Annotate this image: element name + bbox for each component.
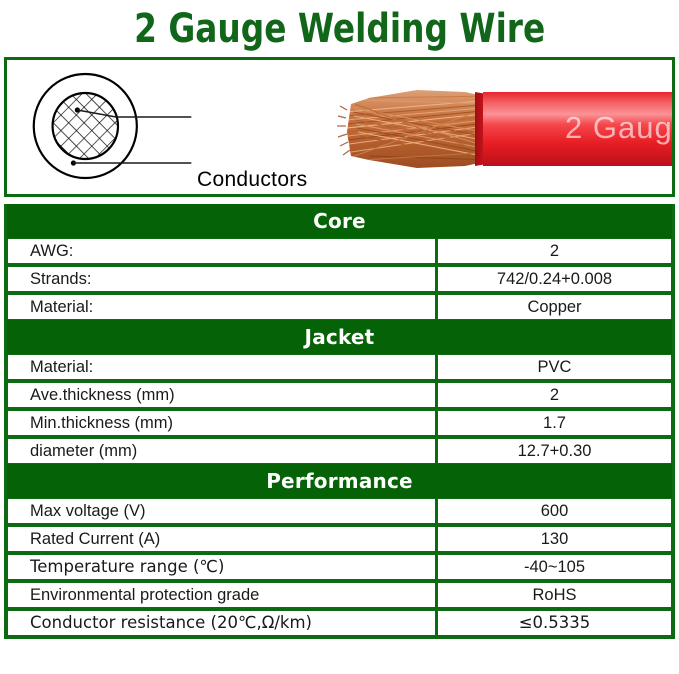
table-row: diameter (mm) 12.7+0.30 <box>7 438 672 464</box>
row-value: 130 <box>438 527 671 551</box>
conductor-circle <box>53 93 118 159</box>
row-value: 742/0.24+0.008 <box>438 267 671 291</box>
page-title: 2 Gauge Welding Wire <box>134 9 545 49</box>
row-value: PVC <box>438 355 671 379</box>
section-header-core: Core <box>7 204 672 238</box>
row-label: Max voltage (V) <box>8 499 435 523</box>
row-value: 2 <box>438 239 671 263</box>
row-label: Ave.thickness (mm) <box>8 383 435 407</box>
table-row: Material: Copper <box>7 294 672 320</box>
row-label: Conductor resistance (20℃,Ω/km) <box>8 611 435 635</box>
row-label: Rated Current (A) <box>8 527 435 551</box>
table-row: AWG: 2 <box>7 238 672 264</box>
row-value: ≤0.5335 <box>438 611 671 635</box>
row-value: 1.7 <box>438 411 671 435</box>
section-header-performance: Performance <box>7 464 672 498</box>
row-label: Environmental protection grade <box>8 583 435 607</box>
table-row: Strands: 742/0.24+0.008 <box>7 266 672 292</box>
copper-strand-bundle <box>337 90 493 168</box>
table-row: Material: PVC <box>7 354 672 380</box>
row-value: 2 <box>438 383 671 407</box>
table-row: Temperature range (℃) -40~105 <box>7 554 672 580</box>
conductors-label: Conductors <box>197 168 307 192</box>
table-row: Environmental protection grade RoHS <box>7 582 672 608</box>
row-value: -40~105 <box>438 555 671 579</box>
cable-photo: 2 Gauge <box>325 60 675 194</box>
page-title-bar: 2 Gauge Welding Wire <box>0 0 679 57</box>
row-value: RoHS <box>438 583 671 607</box>
row-label: diameter (mm) <box>8 439 435 463</box>
row-label: Temperature range (℃) <box>8 555 435 579</box>
row-label: Material: <box>8 295 435 319</box>
row-label: Material: <box>8 355 435 379</box>
table-row: Min.thickness (mm) 1.7 <box>7 410 672 436</box>
row-label: Min.thickness (mm) <box>8 411 435 435</box>
cable-print-text: 2 Gauge <box>565 110 675 145</box>
section-header-jacket: Jacket <box>7 320 672 354</box>
row-value: 12.7+0.30 <box>438 439 671 463</box>
table-row: Rated Current (A) 130 <box>7 526 672 552</box>
row-value: 600 <box>438 499 671 523</box>
table-row: Ave.thickness (mm) 2 <box>7 382 672 408</box>
row-label: AWG: <box>8 239 435 263</box>
specification-table: Core AWG: 2 Strands: 742/0.24+0.008 Mate… <box>4 204 675 639</box>
table-row: Max voltage (V) 600 <box>7 498 672 524</box>
table-row: Conductor resistance (20℃,Ω/km) ≤0.5335 <box>7 610 672 636</box>
row-value: Copper <box>438 295 671 319</box>
row-label: Strands: <box>8 267 435 291</box>
illustration-panel: Conductors Jacket <box>4 57 675 197</box>
